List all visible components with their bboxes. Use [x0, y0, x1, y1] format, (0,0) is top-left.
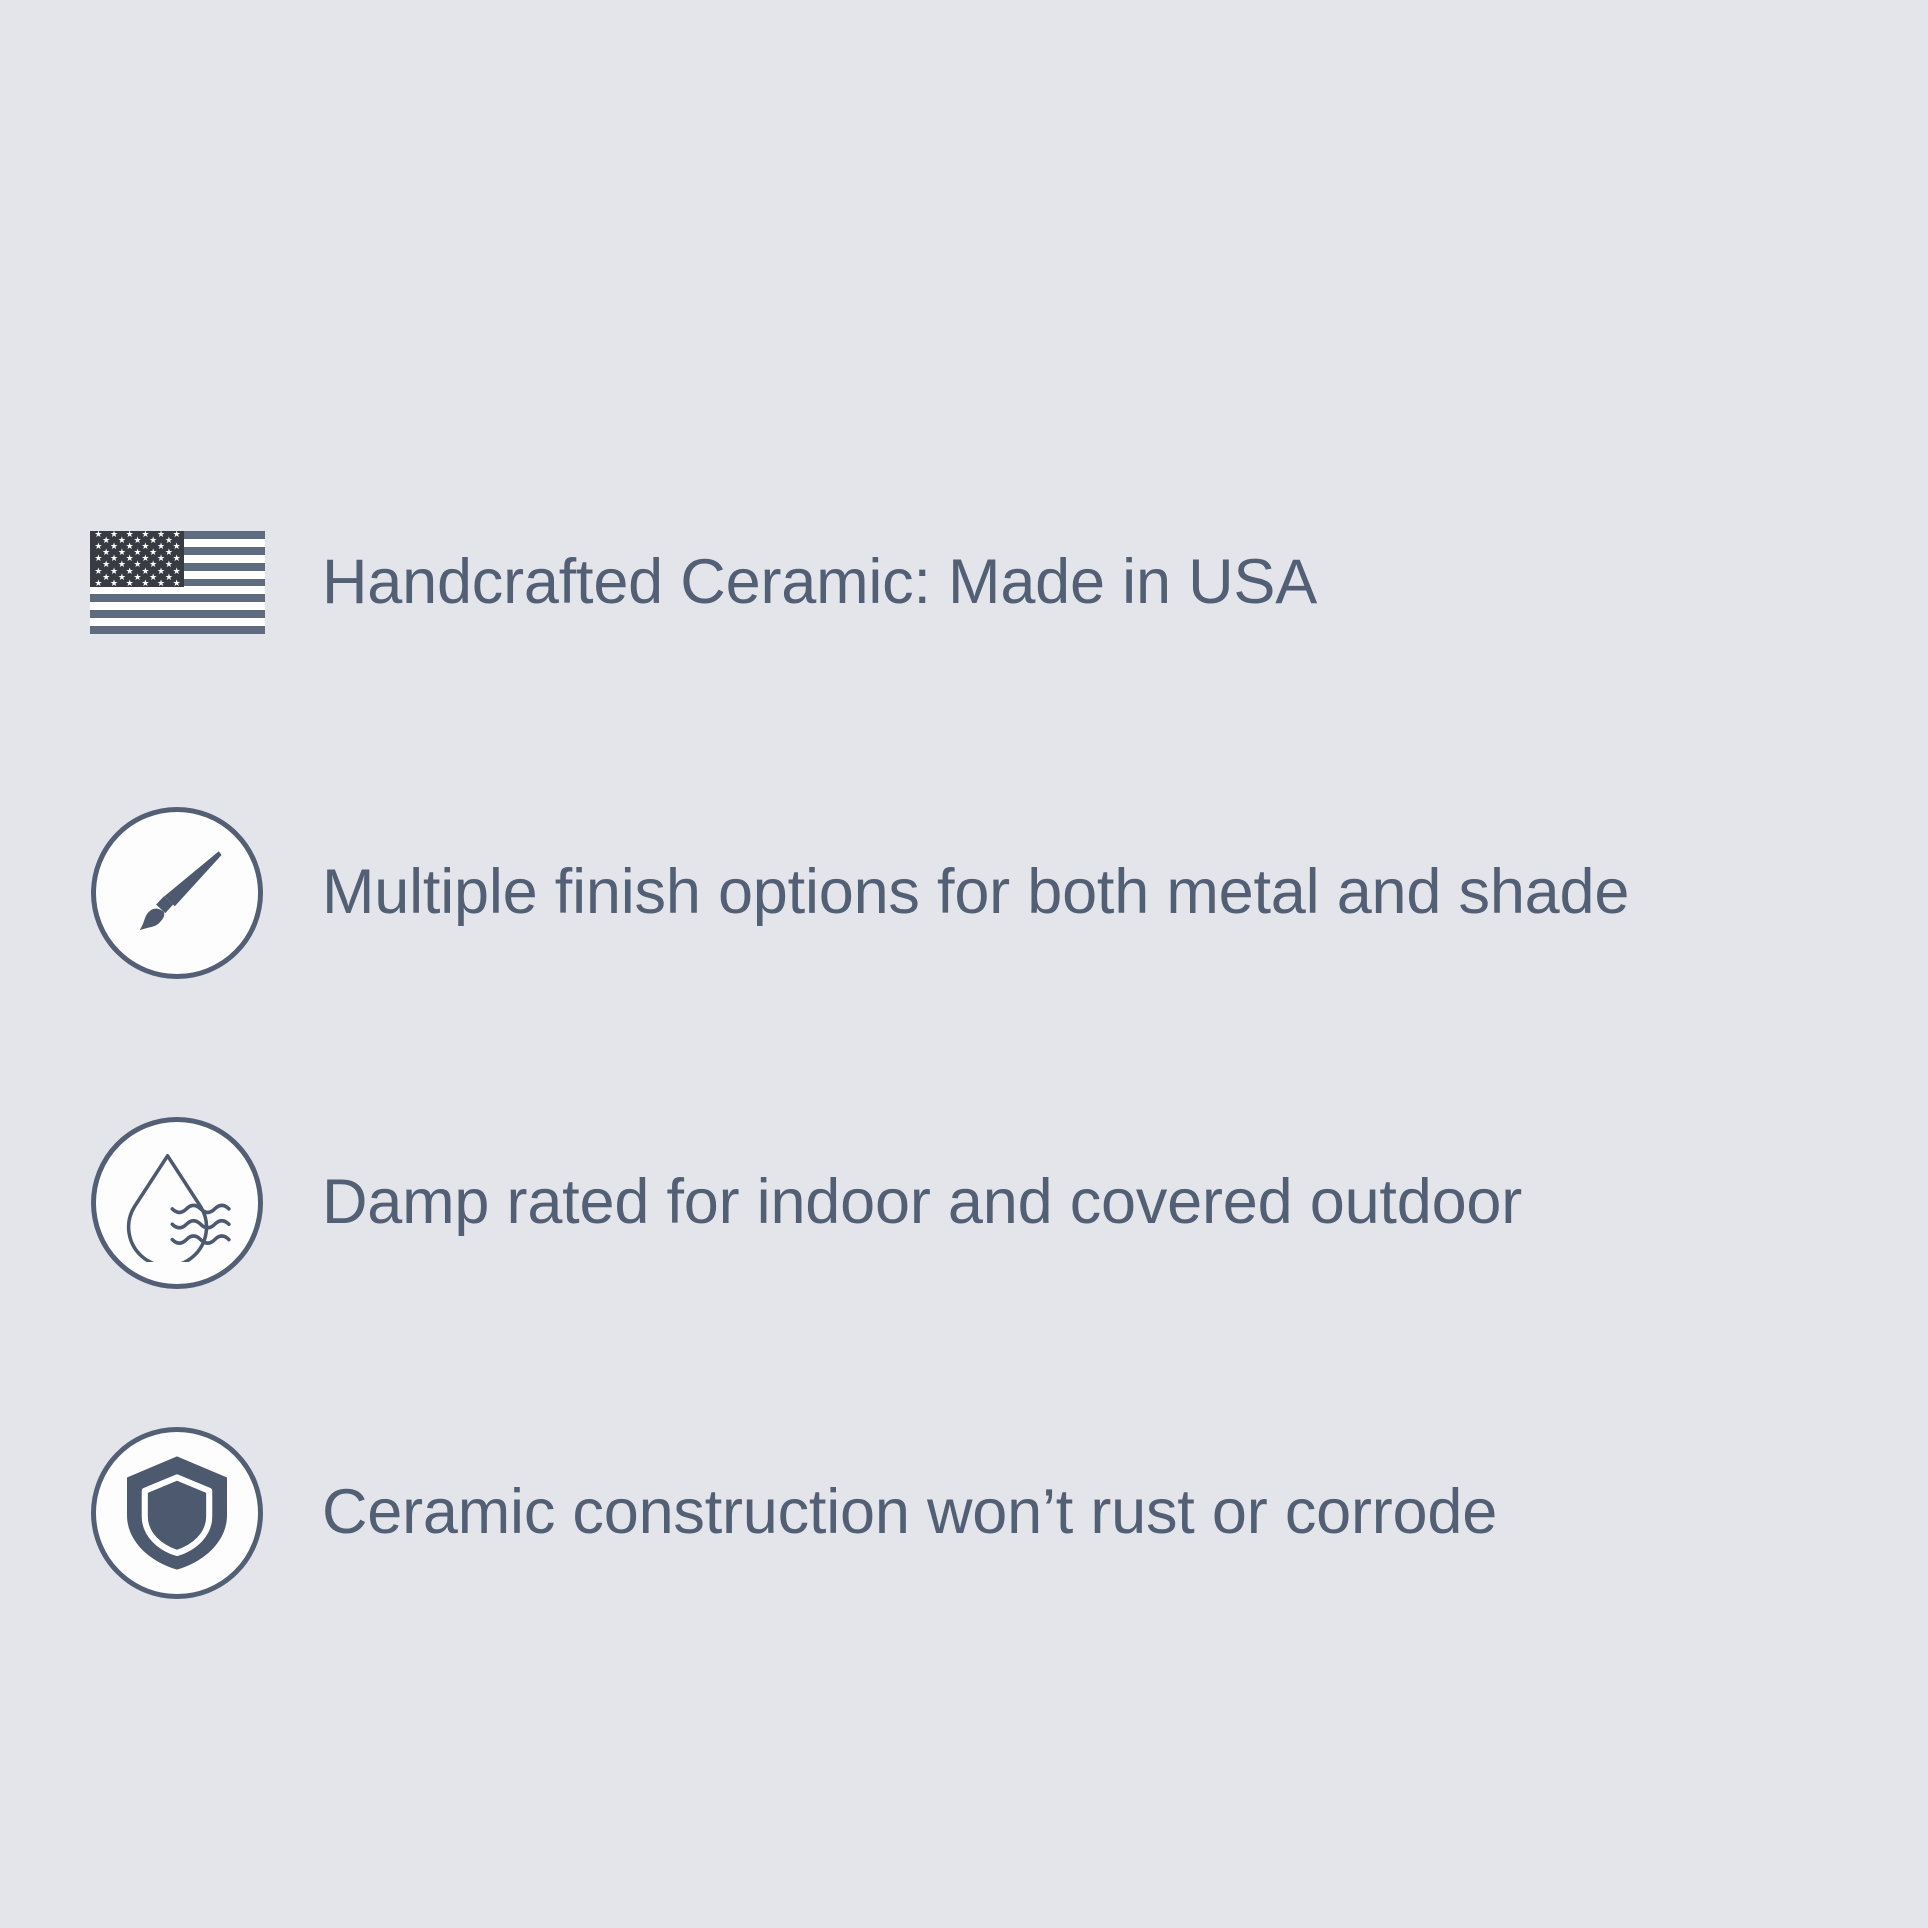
flag-star: ★: [141, 543, 147, 549]
icon-circle: [91, 1427, 263, 1599]
feature-row: Multiple finish options for both metal a…: [86, 780, 1886, 1005]
feature-row: ★★★★★★★★★★★★★★★★★★★★★★★★★★★★★★★★★★★★★★★★…: [86, 470, 1886, 695]
us-flag-icon: ★★★★★★★★★★★★★★★★★★★★★★★★★★★★★★★★★★★★★★★★…: [90, 531, 265, 634]
flag-star: ★: [157, 555, 163, 561]
flag-star: ★: [110, 555, 116, 561]
flag-star: ★: [157, 580, 163, 586]
flag-star: ★: [134, 549, 140, 555]
flag-star: ★: [102, 574, 108, 580]
feature-list: ★★★★★★★★★★★★★★★★★★★★★★★★★★★★★★★★★★★★★★★★…: [86, 470, 1886, 1625]
flag-star: ★: [141, 555, 147, 561]
flag-star: ★: [102, 561, 108, 567]
feature-text: Ceramic construction won’t rust or corro…: [322, 1478, 1497, 1546]
flag-star: ★: [134, 561, 140, 567]
feature-row: Damp rated for indoor and covered outdoo…: [86, 1090, 1886, 1315]
flag-star: ★: [126, 580, 132, 586]
icon-slot: [86, 1422, 268, 1604]
flag-star: ★: [110, 531, 116, 537]
flag-star: ★: [173, 543, 179, 549]
flag-star: ★: [165, 537, 171, 543]
feature-text: Handcrafted Ceramic: Made in USA: [322, 548, 1317, 616]
flag-star: ★: [141, 531, 147, 537]
icon-slot: [86, 1112, 268, 1294]
flag-star: ★: [110, 568, 116, 574]
icon-slot: [86, 802, 268, 984]
flag-star: ★: [134, 537, 140, 543]
flag-star: ★: [149, 549, 155, 555]
flag-star: ★: [149, 537, 155, 543]
flag-star: ★: [157, 543, 163, 549]
flag-star: ★: [94, 580, 100, 586]
flag-star: ★: [126, 568, 132, 574]
flag-star: ★: [157, 531, 163, 537]
flag-star: ★: [126, 555, 132, 561]
feature-text: Multiple finish options for both metal a…: [322, 858, 1629, 926]
feature-row: Ceramic construction won’t rust or corro…: [86, 1400, 1886, 1625]
flag-star: ★: [149, 561, 155, 567]
flag-star: ★: [141, 580, 147, 586]
flag-star: ★: [126, 543, 132, 549]
flag-star: ★: [126, 531, 132, 537]
flag-star: ★: [94, 568, 100, 574]
flag-star: ★: [173, 531, 179, 537]
flag-star: ★: [173, 580, 179, 586]
flag-star: ★: [110, 543, 116, 549]
paintbrush-icon: [122, 838, 232, 948]
flag-star: ★: [157, 568, 163, 574]
icon-slot: ★★★★★★★★★★★★★★★★★★★★★★★★★★★★★★★★★★★★★★★★…: [86, 492, 268, 674]
flag-star: ★: [94, 531, 100, 537]
flag-star: ★: [94, 543, 100, 549]
flag-star: ★: [149, 574, 155, 580]
flag-star: ★: [165, 549, 171, 555]
flag-canton: ★★★★★★★★★★★★★★★★★★★★★★★★★★★★★★★★★★★★★★★★…: [90, 531, 184, 587]
flag-star: ★: [165, 574, 171, 580]
flag-star: ★: [118, 549, 124, 555]
flag-star: ★: [165, 561, 171, 567]
flag-star: ★: [173, 568, 179, 574]
flag-star: ★: [173, 555, 179, 561]
icon-circle: [91, 1117, 263, 1289]
flag-star: ★: [110, 580, 116, 586]
flag-star: ★: [102, 537, 108, 543]
flag-star: ★: [118, 574, 124, 580]
feature-text: Damp rated for indoor and covered outdoo…: [322, 1168, 1522, 1236]
shield-icon: [121, 1453, 233, 1573]
flag-star: ★: [141, 568, 147, 574]
water-droplet-waves-icon: [118, 1144, 236, 1262]
flag-star: ★: [102, 549, 108, 555]
flag-star: ★: [94, 555, 100, 561]
flag-star: ★: [134, 574, 140, 580]
flag-star: ★: [118, 537, 124, 543]
flag-star: ★: [118, 561, 124, 567]
feature-panel: ★★★★★★★★★★★★★★★★★★★★★★★★★★★★★★★★★★★★★★★★…: [0, 0, 1928, 1928]
icon-circle: [91, 807, 263, 979]
